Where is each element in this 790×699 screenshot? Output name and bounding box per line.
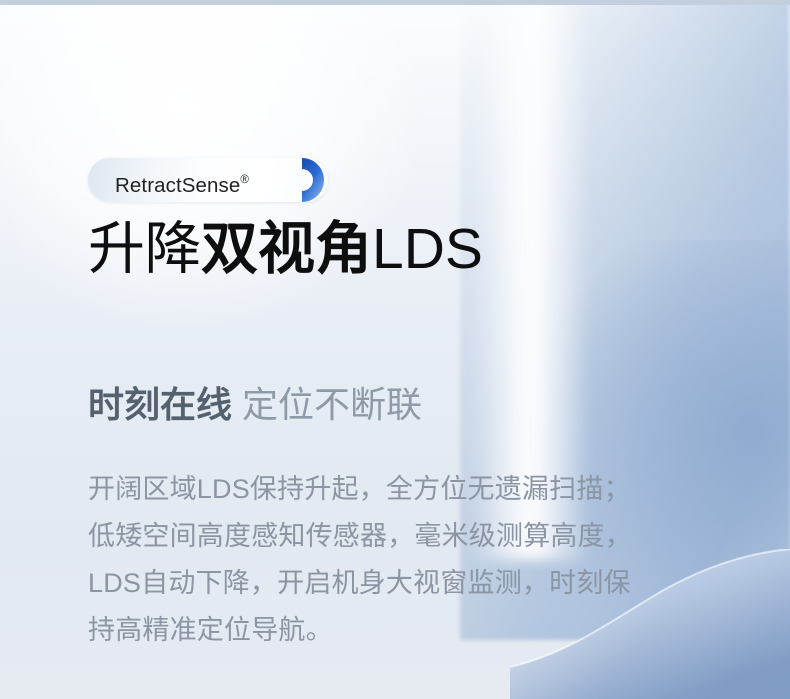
- section-subtitle: 时刻在线定位不断联: [88, 381, 422, 429]
- subtitle-light: 定位不断联: [242, 384, 422, 425]
- content-column: RetractSense® 升降双视角LDS 时刻在线定位不断联 开阔区域LDS…: [88, 0, 748, 699]
- body-description: 开阔区域LDS保持升起，全方位无遗漏扫描； 低矮空间高度感知传感器，毫米级测算高…: [88, 466, 708, 654]
- body-line: 开阔区域LDS保持升起，全方位无遗漏扫描；: [88, 466, 708, 513]
- body-line: 持高精准定位导航。: [88, 607, 708, 654]
- page-title: 升降双视角LDS: [88, 213, 483, 285]
- registered-trademark-icon: ®: [240, 174, 248, 186]
- brand-badge: RetractSense®: [88, 158, 328, 202]
- body-line: 低矮空间高度感知传感器，毫米级测算高度，: [88, 513, 708, 560]
- brand-name-text: RetractSense: [115, 174, 240, 197]
- body-line: LDS自动下降，开启机身大视窗监测，时刻保: [88, 560, 708, 607]
- headline-bold-segment: 双视角: [201, 217, 372, 281]
- brand-name: RetractSense®: [115, 158, 249, 202]
- subtitle-strong: 时刻在线: [88, 384, 232, 425]
- headline-light-prefix: 升降: [88, 217, 201, 281]
- promo-canvas: RetractSense® 升降双视角LDS 时刻在线定位不断联 开阔区域LDS…: [0, 0, 790, 699]
- headline-light-suffix: LDS: [372, 217, 483, 281]
- arc-crescent-icon: [296, 158, 344, 202]
